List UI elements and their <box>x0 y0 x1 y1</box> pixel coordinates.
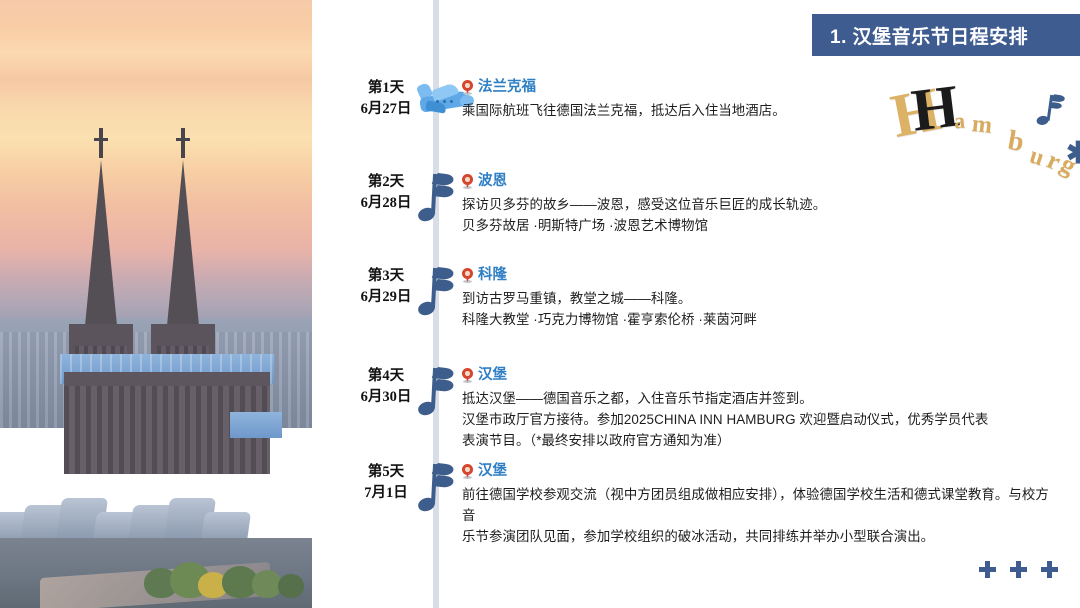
entry-description-line: 抵达汉堡——德国音乐之都，入住音乐节指定酒店并签到。 <box>462 388 1062 409</box>
location-pin-icon <box>462 268 473 283</box>
location-pin-icon <box>462 368 473 383</box>
location-pin-icon <box>462 464 473 479</box>
location-pin-icon <box>462 174 473 189</box>
cologne-cathedral-photo <box>0 0 312 608</box>
cathedral-side-roof <box>230 412 282 438</box>
city-heading: 法兰克福 <box>462 78 1062 97</box>
cathedral-spire-right <box>166 160 200 336</box>
page-title: 1. 汉堡音乐节日程安排 <box>830 22 1028 49</box>
entry-description-line: 贝多芬故居 ·明斯特广场 ·波恩艺术博物馆 <box>462 215 1062 236</box>
cathedral-spire-left <box>84 160 118 336</box>
city-heading: 汉堡 <box>462 366 1062 385</box>
timeline-entry-content: 汉堡抵达汉堡——德国音乐之都，入住音乐节指定酒店并签到。汉堡市政厅官方接待。参加… <box>462 366 1062 451</box>
city-name: 法兰克福 <box>478 78 536 97</box>
timeline-entry-content: 法兰克福乘国际航班飞往德国法兰克福，抵达后入住当地酒店。 <box>462 78 1062 121</box>
city-heading: 汉堡 <box>462 462 1062 481</box>
city-heading: 波恩 <box>462 172 1062 191</box>
city-name: 波恩 <box>478 172 507 191</box>
city-name: 汉堡 <box>478 462 507 481</box>
timeline-entry-content: 汉堡前往德国学校参观交流（视中方团员组成做相应安排），体验德国学校生活和德式课堂… <box>462 462 1062 547</box>
plus-icon <box>979 561 996 578</box>
entry-description-line: 探访贝多芬的故乡——波恩，感受这位音乐巨匠的成长轨迹。 <box>462 194 1062 215</box>
entry-description-line: 乐节参演团队见面，参加学校组织的破冰活动，共同排练并举办小型联合演出。 <box>462 526 1062 547</box>
location-pin-icon <box>462 80 473 95</box>
plus-icon <box>1010 561 1027 578</box>
timeline-entry-content: 科隆到访古罗马重镇，教堂之城——科隆。科隆大教堂 ·巧克力博物馆 ·霍亨索伦桥 … <box>462 266 1062 330</box>
timeline-entry-content: 波恩探访贝多芬的故乡——波恩，感受这位音乐巨匠的成长轨迹。贝多芬故居 ·明斯特广… <box>462 172 1062 236</box>
city-name: 汉堡 <box>478 366 507 385</box>
wordmark-letter-b: b <box>1005 125 1026 159</box>
city-name: 科隆 <box>478 266 507 285</box>
city-heading: 科隆 <box>462 266 1062 285</box>
entry-description-line: 汉堡市政厅官方接待。参加2025CHINA INN HAMBURG 欢迎暨启动仪… <box>462 409 1062 430</box>
entry-description-line: 科隆大教堂 ·巧克力博物馆 ·霍亨索伦桥 ·莱茵河畔 <box>462 309 1062 330</box>
plus-decoration-group <box>979 561 1058 578</box>
entry-description-line: 乘国际航班飞往德国法兰克福，抵达后入住当地酒店。 <box>462 100 1062 121</box>
plaza-trees <box>140 526 312 598</box>
entry-description-line: 表演节目。（*最终安排以政府官方通知为准） <box>462 430 1062 451</box>
tree <box>278 574 304 598</box>
plus-icon <box>1041 561 1058 578</box>
cathedral-silhouette <box>56 96 276 516</box>
entry-description-line: 前往德国学校参观交流（视中方团员组成做相应安排），体验德国学校生活和德式课堂教育… <box>462 484 1062 526</box>
section-title-bar: 1. 汉堡音乐节日程安排 <box>812 14 1080 56</box>
asterisk-icon: ✱ <box>1066 136 1080 171</box>
entry-description-line: 到访古罗马重镇，教堂之城——科隆。 <box>462 288 1062 309</box>
